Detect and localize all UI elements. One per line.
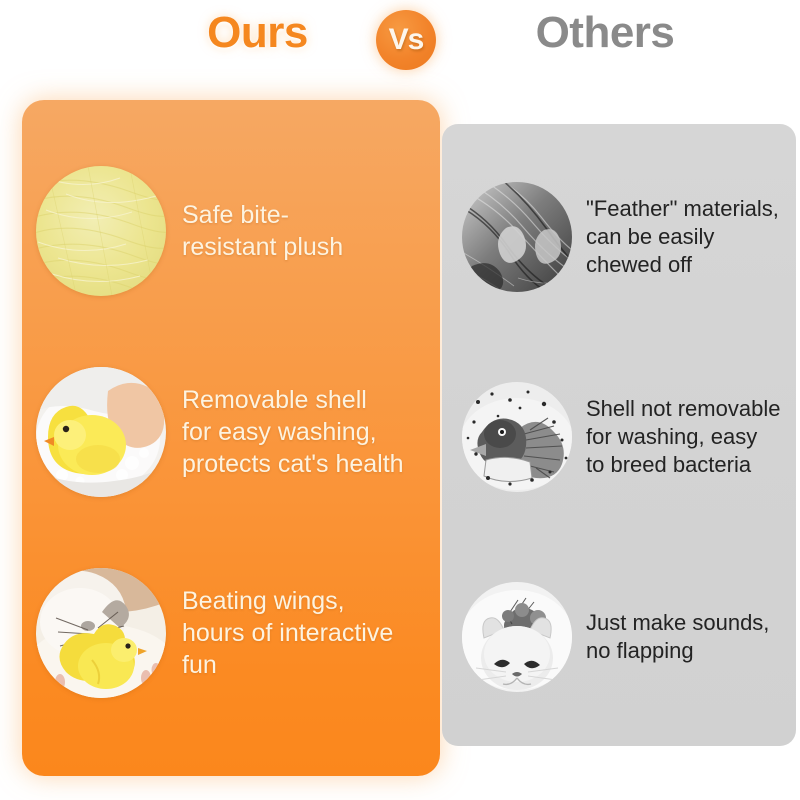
others-row-3: Just make sounds, no flapping <box>462 582 792 692</box>
others-title: Others <box>460 8 750 58</box>
plush-fur-texture-image <box>36 166 166 296</box>
feather-closeup-image <box>462 182 572 292</box>
vs-badge: Vs <box>376 10 436 70</box>
comparison-infographic: Ours Vs Others <box>0 0 800 800</box>
cat-playing-duck-image <box>36 568 166 698</box>
ours-row-1: Safe bite- resistant plush <box>36 166 416 296</box>
header: Ours Vs Others <box>0 0 800 86</box>
ours-row-1-text: Safe bite- resistant plush <box>182 199 343 264</box>
others-row-2: Shell not removable for washing, easy to… <box>462 382 792 492</box>
ours-row-2: Removable shell for easy washing, protec… <box>36 367 416 497</box>
others-row-2-text: Shell not removable for washing, easy to… <box>586 395 780 479</box>
ours-row-3: Beating wings, hours of interactive fun <box>36 568 416 698</box>
ours-row-2-text: Removable shell for easy washing, protec… <box>182 384 404 481</box>
others-row-1-text: "Feather" materials, can be easily chewe… <box>586 195 779 279</box>
vs-badge-label: Vs <box>389 25 424 55</box>
ours-title: Ours <box>150 8 365 58</box>
dirty-bird-toy-image <box>462 382 572 492</box>
ours-row-3-text: Beating wings, hours of interactive fun <box>182 585 393 682</box>
chick-washing-image <box>36 367 166 497</box>
others-row-3-text: Just make sounds, no flapping <box>586 609 769 665</box>
others-row-1: "Feather" materials, can be easily chewe… <box>462 182 792 292</box>
cat-with-toy-image <box>462 582 572 692</box>
